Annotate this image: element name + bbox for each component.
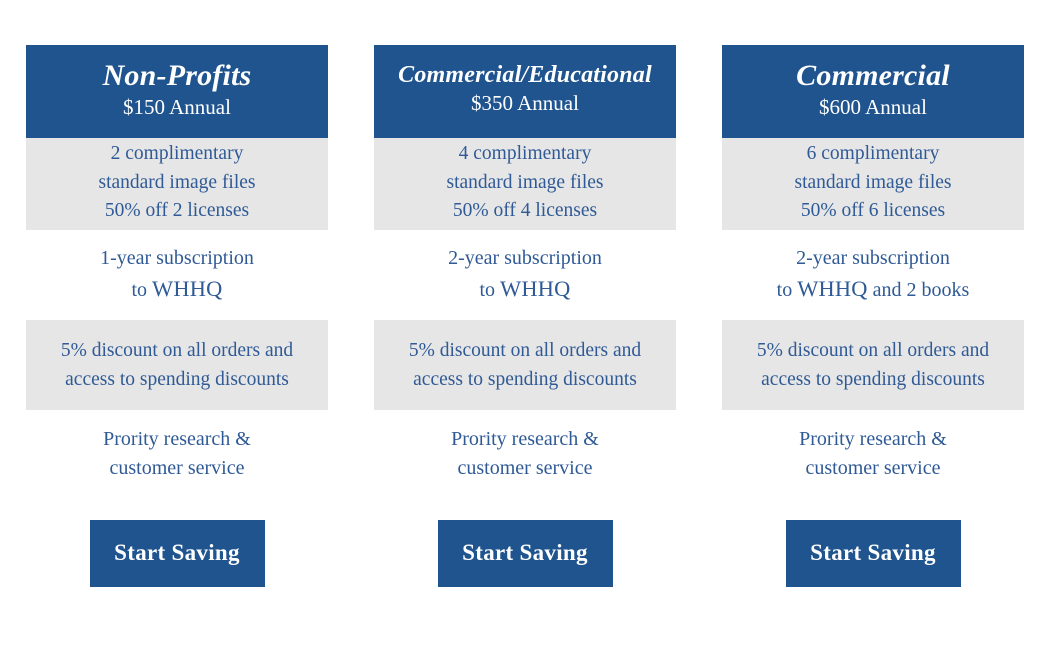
support-line-1: Prority research & xyxy=(799,425,947,454)
start-saving-button[interactable]: Start Saving xyxy=(438,520,613,587)
plan-column-commercial: Commercial $600 Annual 6 complimentary s… xyxy=(722,45,1024,661)
includes-line-3: 50% off 4 licenses xyxy=(453,197,597,225)
plan-title: Non-Profits xyxy=(103,59,252,93)
cta-container: Start Saving xyxy=(722,498,1024,608)
includes-line-2: standard image files xyxy=(794,169,951,197)
subscription-prefix: to xyxy=(777,279,798,301)
start-saving-button[interactable]: Start Saving xyxy=(786,520,961,587)
plan-includes-band: 6 complimentary standard image files 50%… xyxy=(722,138,1024,230)
plan-support-band: Prority research & customer service xyxy=(26,410,328,498)
support-line-1: Prority research & xyxy=(451,425,599,454)
includes-line-2: standard image files xyxy=(446,169,603,197)
subscription-line-2: to WHHQ and 2 books xyxy=(777,273,970,305)
discount-line-2: access to spending discounts xyxy=(413,365,637,394)
whhq-brand: WHHQ xyxy=(152,276,222,301)
support-line-2: customer service xyxy=(806,454,941,483)
subscription-line-1: 2-year subscription xyxy=(796,244,950,273)
includes-line-1: 4 complimentary xyxy=(459,140,592,168)
start-saving-button[interactable]: Start Saving xyxy=(90,520,265,587)
plan-title: Commercial xyxy=(796,59,950,93)
includes-line-1: 2 complimentary xyxy=(111,140,244,168)
discount-line-1: 5% discount on all orders and xyxy=(409,336,641,365)
plan-includes-band: 2 complimentary standard image files 50%… xyxy=(26,138,328,230)
support-line-2: customer service xyxy=(110,454,245,483)
subscription-prefix: to xyxy=(479,279,500,301)
subscription-line-2: to WHHQ xyxy=(131,273,222,305)
plan-discount-band: 5% discount on all orders and access to … xyxy=(722,320,1024,410)
plan-support-band: Prority research & customer service xyxy=(374,410,676,498)
discount-line-2: access to spending discounts xyxy=(761,365,985,394)
plan-subscription-band: 2-year subscription to WHHQ and 2 books xyxy=(722,230,1024,320)
subscription-line-1: 2-year subscription xyxy=(448,244,602,273)
plan-discount-band: 5% discount on all orders and access to … xyxy=(26,320,328,410)
plan-price: $600 Annual xyxy=(819,95,927,120)
discount-line-1: 5% discount on all orders and xyxy=(61,336,293,365)
pricing-table: Non-Profits $150 Annual 2 complimentary … xyxy=(0,0,1040,661)
subscription-line-2: to WHHQ xyxy=(479,273,570,305)
includes-line-3: 50% off 2 licenses xyxy=(105,197,249,225)
plan-price: $150 Annual xyxy=(123,95,231,120)
plan-header: Commercial $600 Annual xyxy=(722,45,1024,138)
cta-container: Start Saving xyxy=(26,498,328,608)
subscription-suffix: and 2 books xyxy=(868,279,970,301)
plan-includes-band: 4 complimentary standard image files 50%… xyxy=(374,138,676,230)
plan-subscription-band: 2-year subscription to WHHQ xyxy=(374,230,676,320)
discount-line-1: 5% discount on all orders and xyxy=(757,336,989,365)
plan-column-non-profits: Non-Profits $150 Annual 2 complimentary … xyxy=(26,45,328,661)
plan-column-commercial-educational: Commercial/Educational $350 Annual 4 com… xyxy=(374,45,676,661)
plan-subscription-band: 1-year subscription to WHHQ xyxy=(26,230,328,320)
plan-title: Commercial/Educational xyxy=(398,62,652,89)
includes-line-1: 6 complimentary xyxy=(807,140,940,168)
whhq-brand: WHHQ xyxy=(500,276,570,301)
cta-container: Start Saving xyxy=(374,498,676,608)
includes-line-3: 50% off 6 licenses xyxy=(801,197,945,225)
support-line-2: customer service xyxy=(458,454,593,483)
plan-price: $350 Annual xyxy=(471,91,579,116)
includes-line-2: standard image files xyxy=(98,169,255,197)
plan-header: Commercial/Educational $350 Annual xyxy=(374,45,676,138)
plan-support-band: Prority research & customer service xyxy=(722,410,1024,498)
whhq-brand: WHHQ xyxy=(797,276,867,301)
support-line-1: Prority research & xyxy=(103,425,251,454)
subscription-line-1: 1-year subscription xyxy=(100,244,254,273)
plan-header: Non-Profits $150 Annual xyxy=(26,45,328,138)
discount-line-2: access to spending discounts xyxy=(65,365,289,394)
plan-discount-band: 5% discount on all orders and access to … xyxy=(374,320,676,410)
subscription-prefix: to xyxy=(131,279,152,301)
